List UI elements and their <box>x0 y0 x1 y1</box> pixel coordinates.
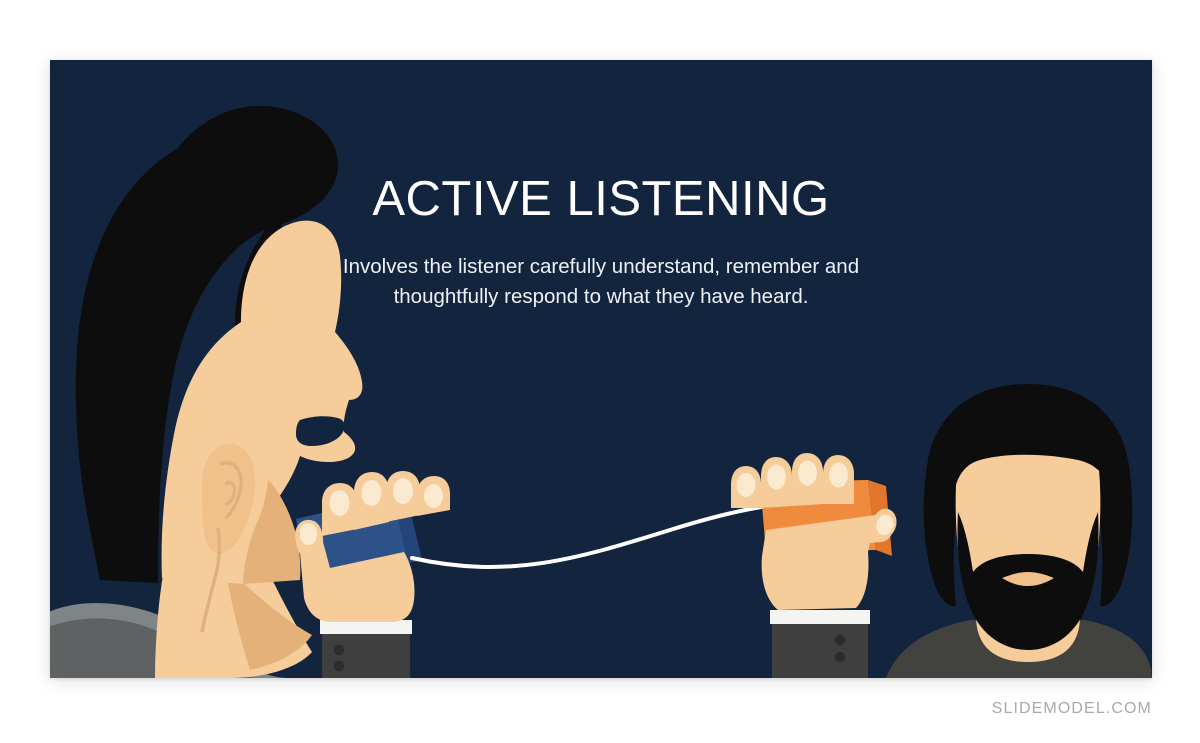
right-sleeve-button-bottom <box>835 652 845 662</box>
page-root: ACTIVE LISTENING Involves the listener c… <box>0 0 1200 743</box>
left-sleeve <box>322 632 410 678</box>
right-sleeve-button-top <box>835 635 845 645</box>
left-sleeve-button-top <box>334 645 344 655</box>
left-cuff <box>320 620 412 634</box>
right-hand-fingers <box>731 453 854 508</box>
right-figure-group <box>886 384 1152 678</box>
watermark-label: SLIDEMODEL.COM <box>992 700 1152 718</box>
right-hand-group <box>731 453 897 678</box>
connecting-string <box>412 503 822 567</box>
right-cuff <box>770 610 870 624</box>
left-hand-thumbnail <box>300 523 317 545</box>
left-hand-group <box>295 471 450 678</box>
slide-canvas: ACTIVE LISTENING Involves the listener c… <box>50 60 1152 678</box>
right-sleeve <box>772 622 868 678</box>
left-sleeve-button-bottom <box>334 661 344 671</box>
illustration-artwork <box>50 60 1152 678</box>
